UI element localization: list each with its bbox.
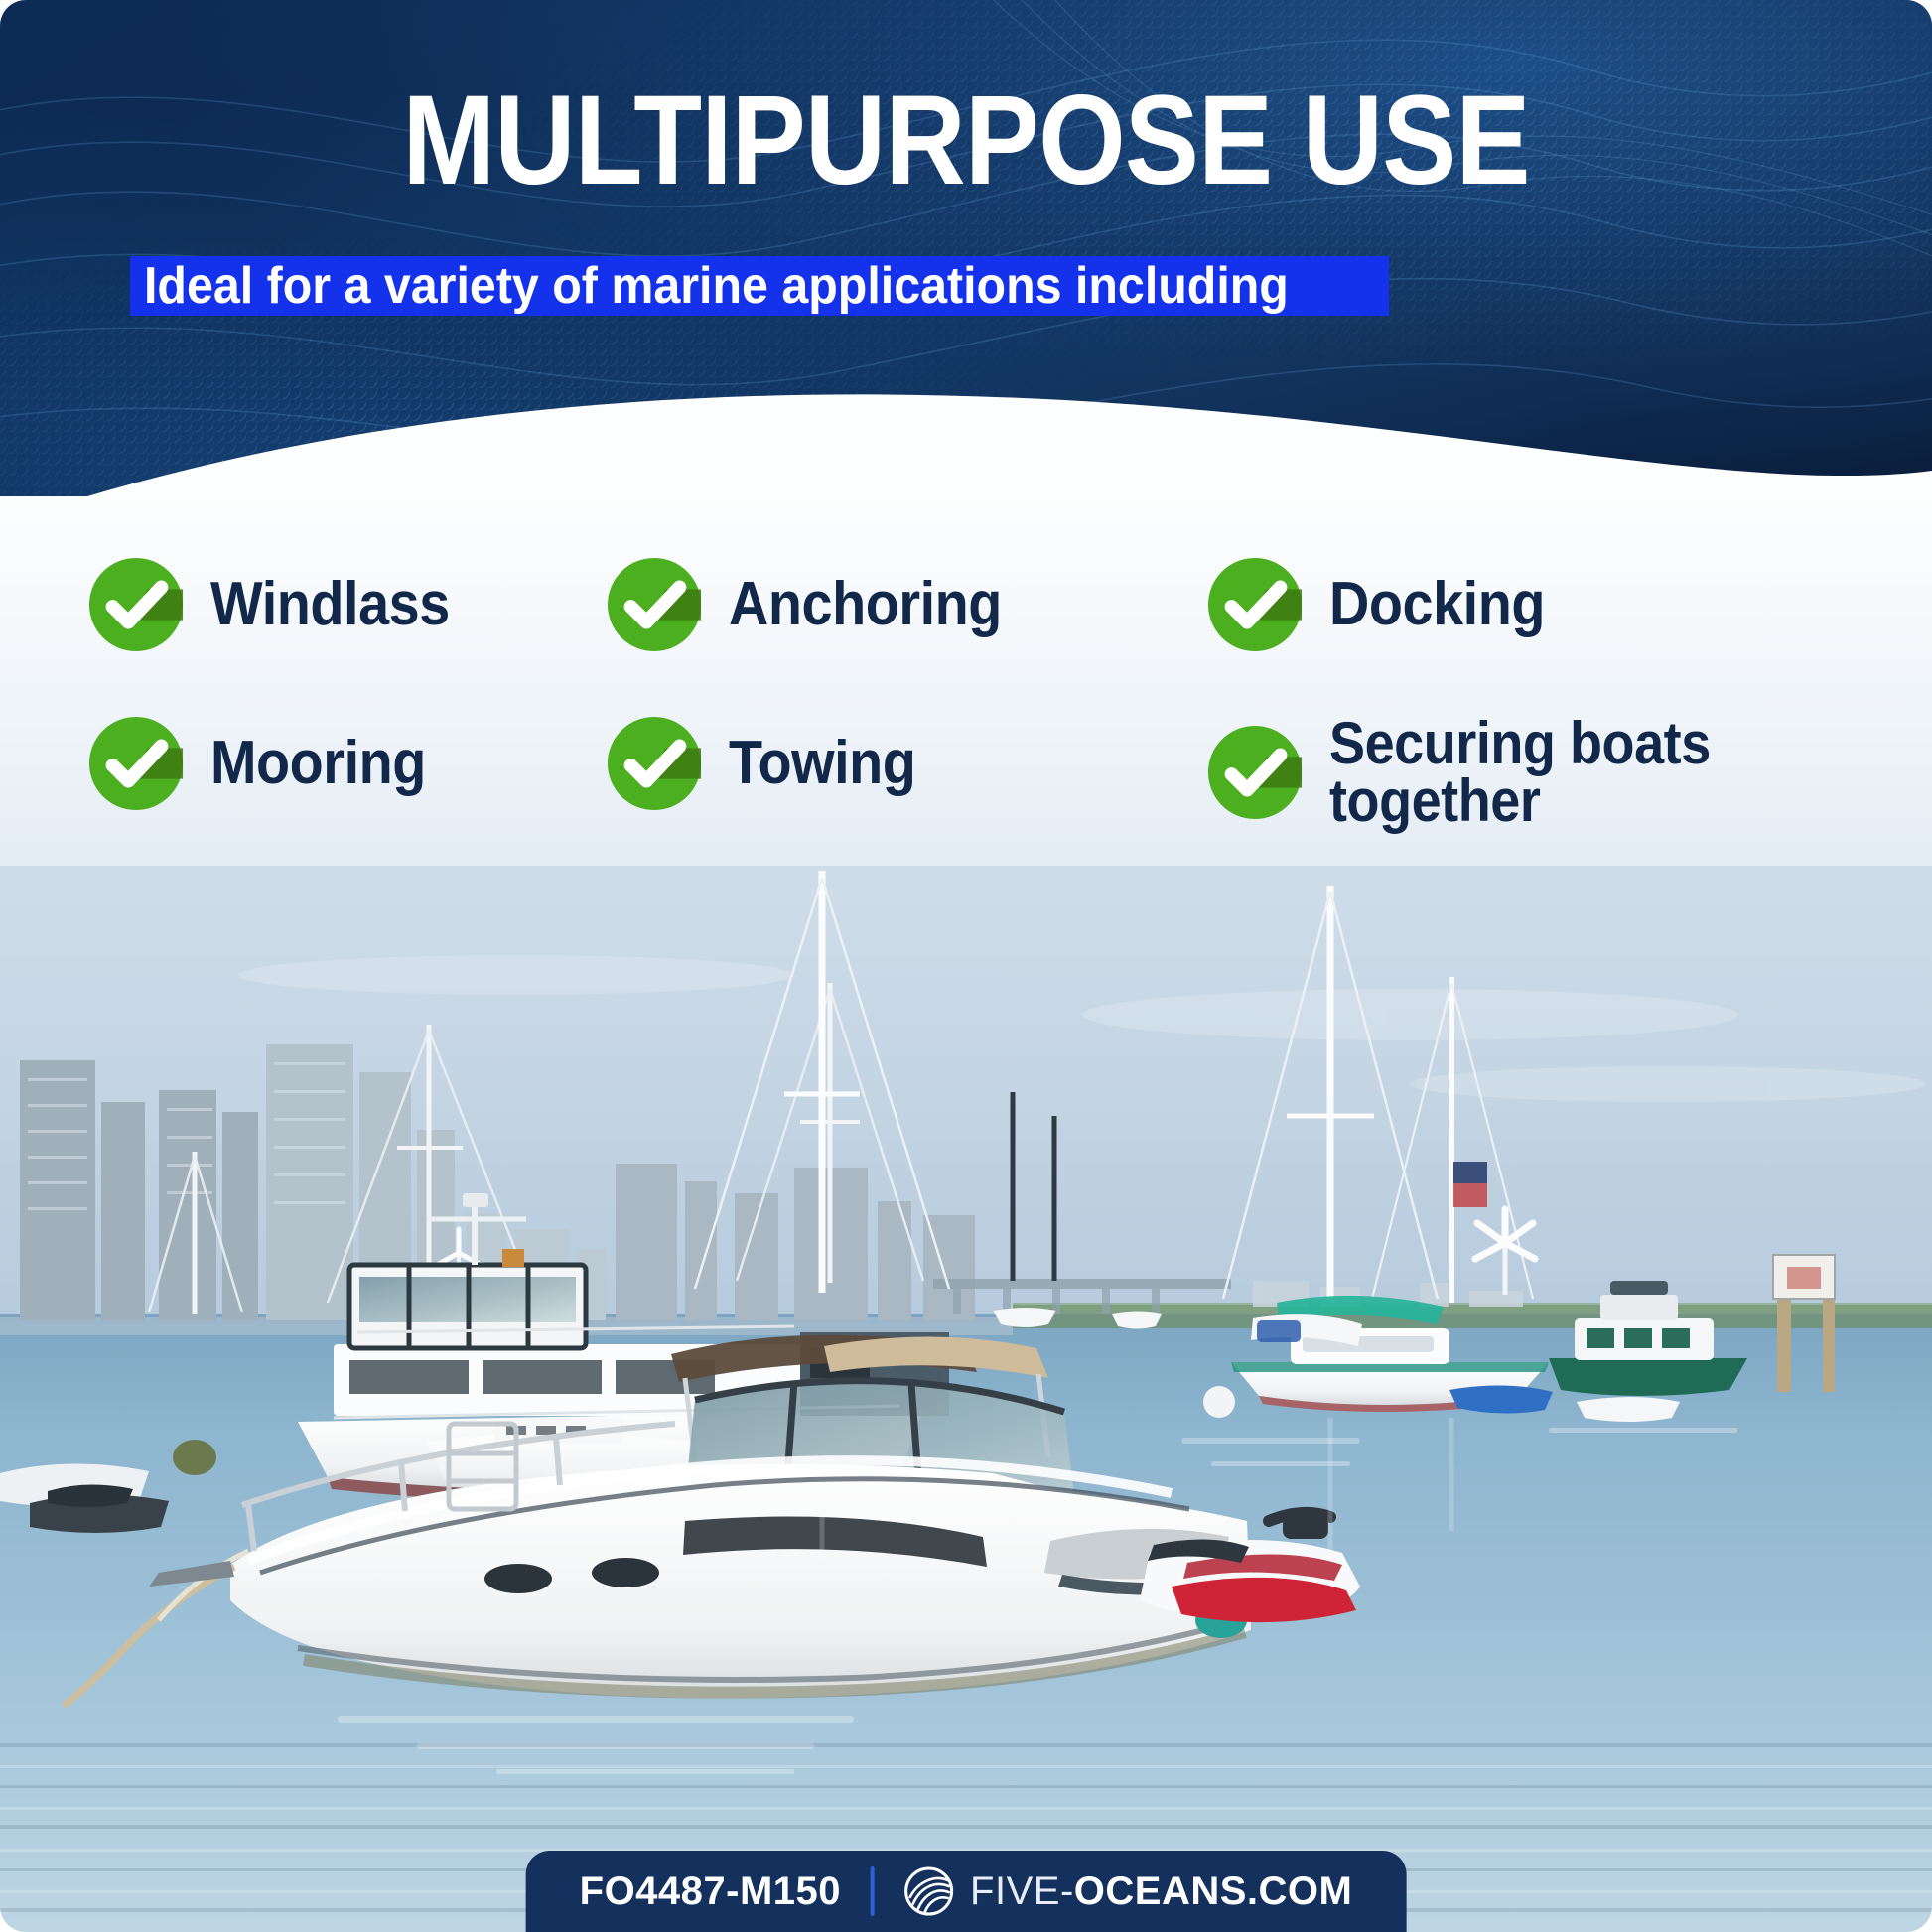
feature-label: Mooring bbox=[210, 734, 426, 793]
feature-item-windlass: Windlass bbox=[87, 556, 477, 653]
page-title: MULTIPURPOSE USE bbox=[116, 77, 1816, 205]
brand-lockup: FIVE-OCEANS.COM bbox=[904, 1866, 1352, 1916]
check-circle-icon bbox=[87, 556, 185, 653]
product-sku: FO4487-M150 bbox=[580, 1869, 841, 1914]
feature-label: Towing bbox=[729, 734, 915, 793]
brand-prefix: FIVE- bbox=[970, 1869, 1074, 1913]
poster-root: MULTIPURPOSE USE Ideal for a variety of … bbox=[0, 0, 1932, 1932]
subtitle-highlight-bar: Ideal for a variety of marine applicatio… bbox=[130, 256, 1389, 316]
marina-photo bbox=[0, 866, 1932, 1932]
feature-item-towing: Towing bbox=[606, 715, 936, 812]
check-circle-icon bbox=[606, 556, 703, 653]
brand-name: FIVE-OCEANS.COM bbox=[970, 1869, 1352, 1914]
feature-label: Docking bbox=[1329, 575, 1545, 634]
check-circle-icon bbox=[1206, 724, 1304, 821]
check-circle-icon bbox=[87, 715, 185, 812]
footer-bar: FO4487-M150 FIVE-OCEANS.COM bbox=[526, 1851, 1407, 1932]
feature-item-docking: Docking bbox=[1206, 556, 1569, 653]
feature-label: Windlass bbox=[210, 575, 450, 634]
feature-label: Anchoring bbox=[729, 575, 1002, 634]
features-list: Windlass Anchoring bbox=[0, 556, 1932, 874]
feature-item-anchoring: Anchoring bbox=[606, 556, 1032, 653]
feature-item-securing-boats-together: Securing boats together bbox=[1206, 715, 1752, 830]
check-circle-icon bbox=[606, 715, 703, 812]
feature-item-mooring: Mooring bbox=[87, 715, 450, 812]
features-row-2: Mooring Towing bbox=[0, 715, 1932, 874]
features-row-1: Windlass Anchoring bbox=[0, 556, 1932, 715]
footer-divider bbox=[871, 1866, 875, 1916]
brand-suffix: OCEANS.COM bbox=[1074, 1869, 1353, 1913]
feature-label: Securing boats together bbox=[1329, 715, 1711, 830]
check-circle-icon bbox=[1206, 556, 1304, 653]
five-oceans-shell-icon bbox=[904, 1866, 954, 1916]
subtitle-text: Ideal for a variety of marine applicatio… bbox=[144, 260, 1289, 312]
header-banner: MULTIPURPOSE USE Ideal for a variety of … bbox=[0, 0, 1932, 562]
